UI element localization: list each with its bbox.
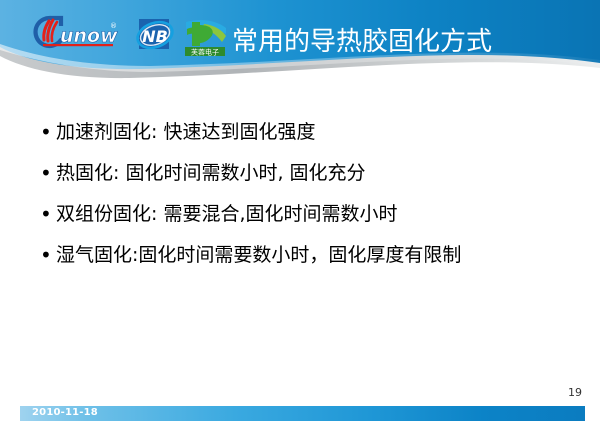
list-item-text: 双组份固化: 需要混合,固化时间需数小时 — [56, 200, 576, 228]
green-electronics-logo: 芙蓉电子 — [182, 16, 228, 58]
nb-logo: NB — [136, 16, 174, 54]
list-item: • 双组份固化: 需要混合,固化时间需数小时 — [36, 200, 576, 228]
page-number: 19 — [568, 386, 582, 399]
registered-mark-icon: ® — [110, 22, 117, 30]
list-item-text: 湿气固化:固化时间需要数小时，固化厚度有限制 — [56, 241, 576, 269]
list-item-text: 热固化: 固化时间需数小时, 固化充分 — [56, 159, 576, 187]
bullet-point-icon: • — [36, 241, 56, 269]
page-title: 常用的导热胶固化方式 — [232, 26, 492, 58]
unow-logo: unow ® — [30, 14, 118, 50]
bullet-point-icon: • — [36, 118, 56, 146]
footer-bar — [20, 406, 585, 421]
list-item: • 热固化: 固化时间需数小时, 固化充分 — [36, 159, 576, 187]
bullet-point-icon: • — [36, 159, 56, 187]
list-item: • 加速剂固化: 快速达到固化强度 — [36, 118, 576, 146]
slide: unow ® NB 芙蓉电子 常用的导热胶固化 — [0, 0, 600, 424]
bullet-list: • 加速剂固化: 快速达到固化强度 • 热固化: 固化时间需数小时, 固化充分 … — [36, 118, 576, 282]
nb-wordmark: NB — [142, 27, 168, 46]
green-logo-wordmark: 芙蓉电子 — [191, 48, 219, 57]
list-item: • 湿气固化:固化时间需要数小时，固化厚度有限制 — [36, 241, 576, 269]
list-item-text: 加速剂固化: 快速达到固化强度 — [56, 118, 576, 146]
footer-date: 2010-11-18 — [32, 407, 98, 418]
bullet-point-icon: • — [36, 200, 56, 228]
